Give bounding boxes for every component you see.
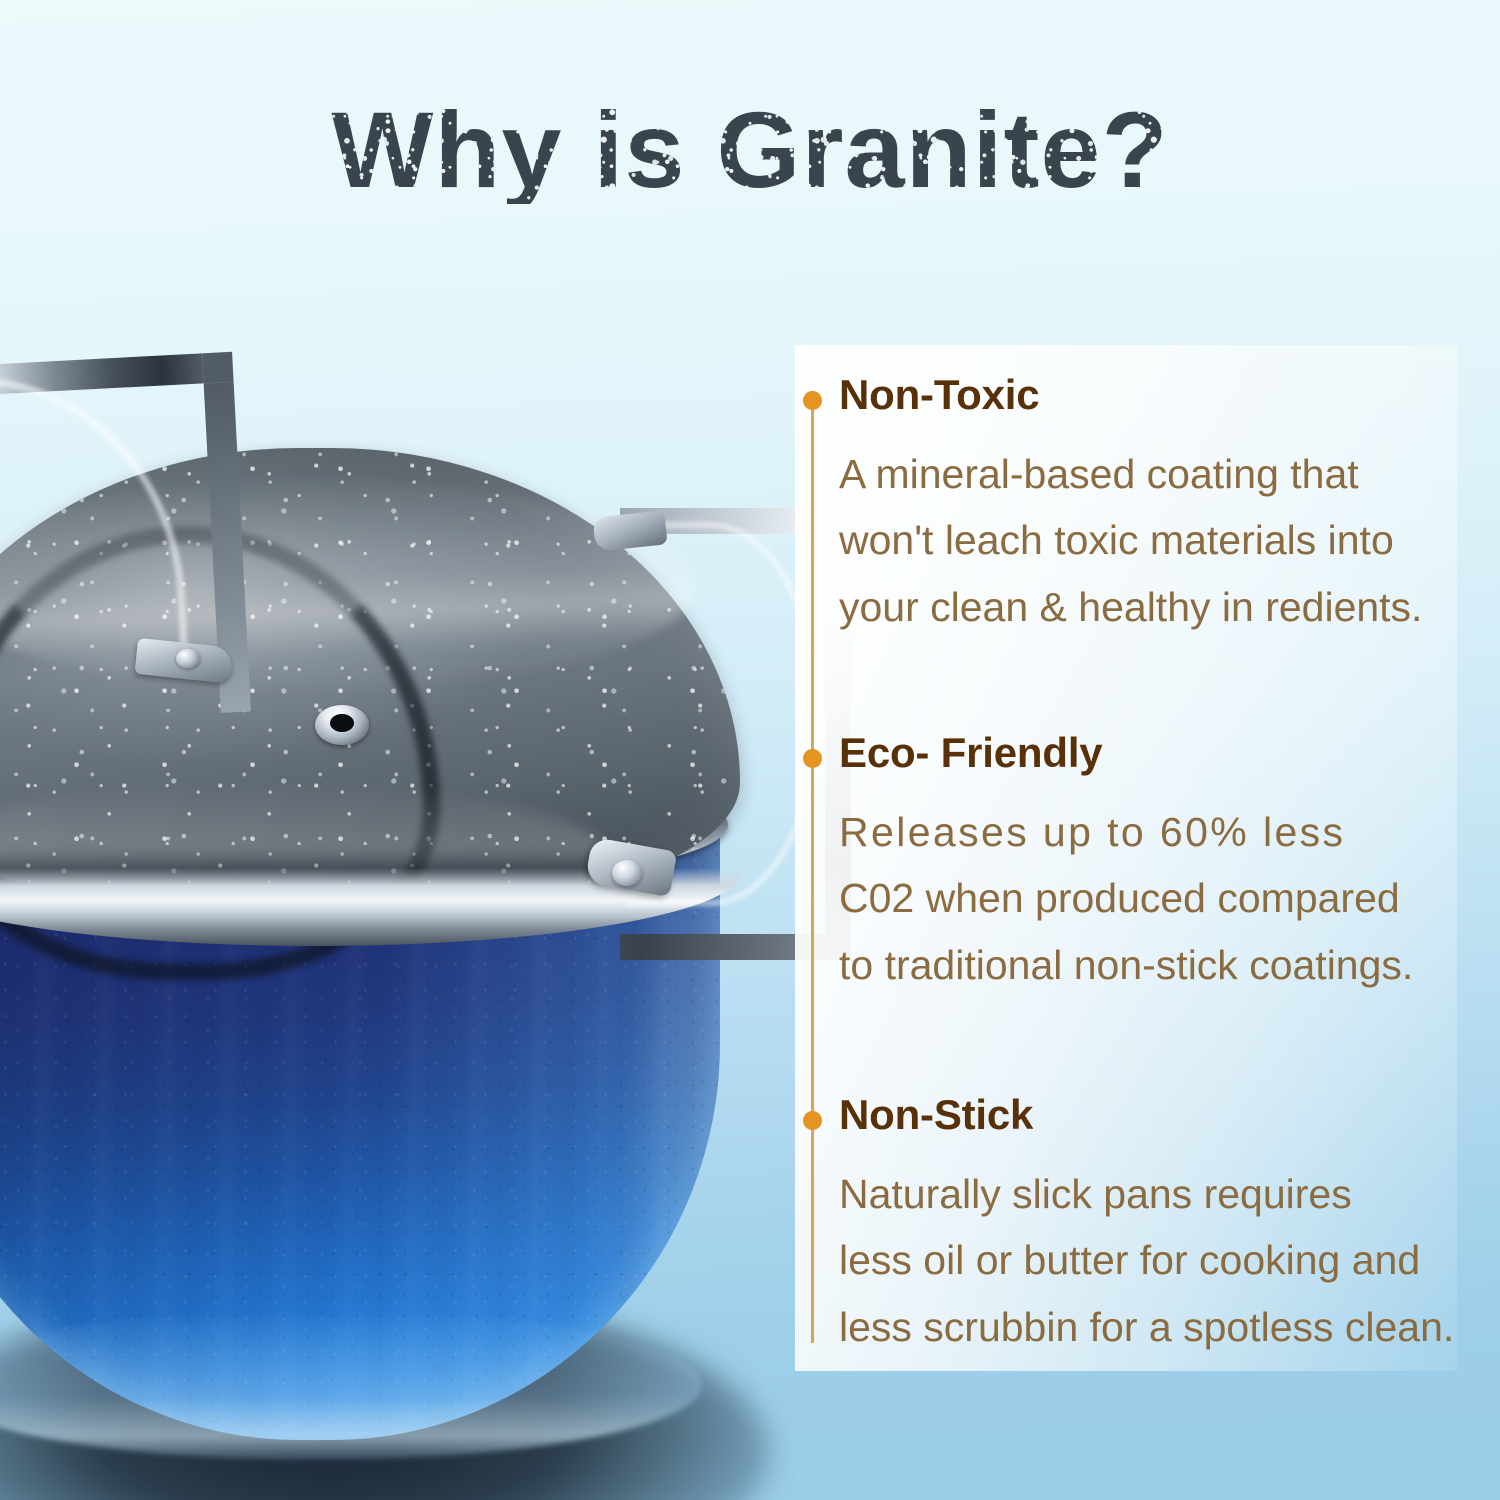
product-image [0,330,860,1500]
feature-text-line: Naturally slick pans requires [839,1161,1449,1227]
feature-text-line: won't leach toxic materials into [839,507,1449,573]
feature-title: Eco- Friendly [839,729,1102,777]
timeline-connector [811,391,814,1343]
infographic-canvas: Why is Granite? [0,0,1500,1500]
feature-description: Releases up to 60% less C02 when produce… [839,799,1449,998]
steam-vent [315,705,369,745]
bullet-dot-icon [803,1111,822,1130]
bullet-dot-icon [803,391,822,410]
feature-text-line: to traditional non-stick coatings. [839,932,1449,998]
feature-text-line: Releases up to 60% less [839,799,1449,865]
steam-vent-hole [330,714,354,732]
feature-text-line: A mineral-based coating that [839,441,1449,507]
feature-text-line: less scrubbin for a spotless clean. [839,1294,1449,1360]
lid-handle [0,355,187,667]
feature-description: A mineral-based coating that won't leach… [839,441,1449,640]
page-title: Why is Granite? [331,96,1168,204]
side-handle-rivet [612,860,642,886]
features-panel: Non-Toxic A mineral-based coating that w… [795,345,1457,1371]
feature-title: Non-Toxic [839,371,1039,419]
feature-title: Non-Stick [839,1091,1033,1139]
title-container: Why is Granite? [0,96,1500,204]
feature-text-line: C02 when produced compared [839,865,1449,931]
feature-text-line: your clean & healthy in redients. [839,574,1449,640]
feature-text-line: less oil or butter for cooking and [839,1227,1449,1293]
feature-description: Naturally slick pans requires less oil o… [839,1161,1449,1360]
bullet-dot-icon [803,749,822,768]
